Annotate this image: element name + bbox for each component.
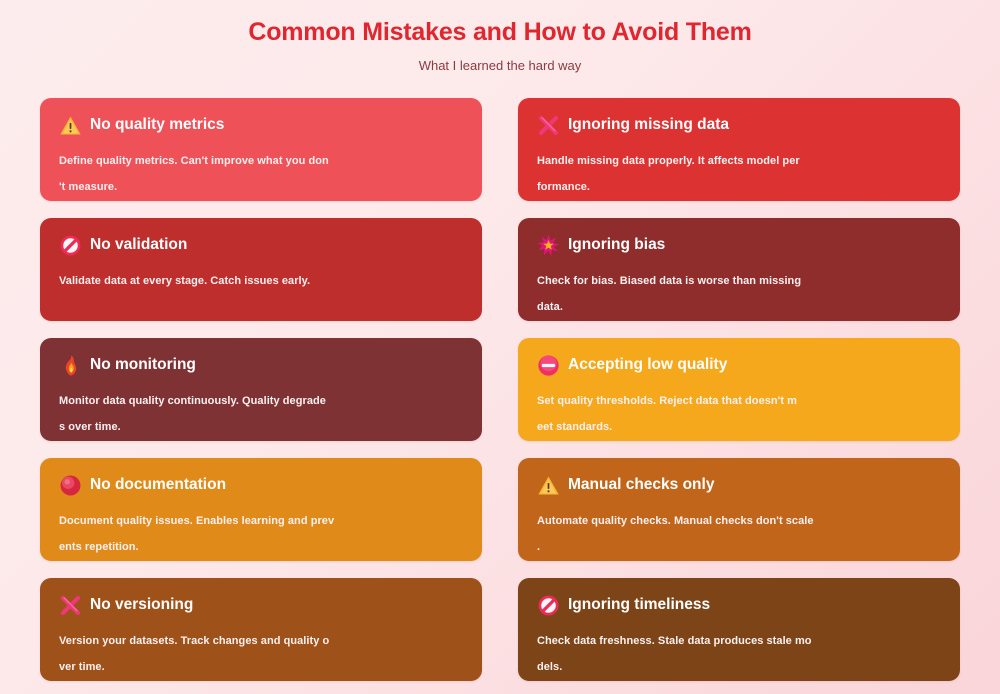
mistake-card[interactable]: No validationValidate data at every stag… — [40, 218, 482, 321]
card-title: Ignoring bias — [568, 235, 665, 255]
card-body-text: Validate data at every stage. Catch issu… — [59, 268, 399, 294]
card-header: No quality metrics — [59, 113, 463, 137]
card-title: Ignoring missing data — [568, 115, 729, 135]
card-header: Ignoring missing data — [537, 113, 941, 137]
mistake-card[interactable]: Ignoring timelinessCheck data freshness.… — [518, 578, 960, 681]
warning-triangle-icon — [537, 474, 560, 497]
prohibited-sign-icon — [537, 594, 560, 617]
card-header: No documentation — [59, 473, 463, 497]
slide-root: Common Mistakes and How to Avoid Them Wh… — [0, 0, 1000, 694]
cross-mark-icon — [59, 594, 82, 617]
card-header: Manual checks only — [537, 473, 941, 497]
card-title: No validation — [90, 235, 187, 255]
mistake-card[interactable]: No documentationDocument quality issues.… — [40, 458, 482, 561]
mistake-card[interactable]: Manual checks onlyAutomate quality check… — [518, 458, 960, 561]
card-title: No quality metrics — [90, 115, 224, 135]
mistake-card[interactable]: Ignoring biasCheck for bias. Biased data… — [518, 218, 960, 321]
card-header: No versioning — [59, 593, 463, 617]
card-body-text: Check data freshness. Stale data produce… — [537, 628, 877, 680]
mistake-card[interactable]: No monitoringMonitor data quality contin… — [40, 338, 482, 441]
card-body-text: Monitor data quality continuously. Quali… — [59, 388, 399, 440]
card-header: Accepting low quality — [537, 353, 941, 377]
card-title: No documentation — [90, 475, 226, 495]
card-body-text: Set quality thresholds. Reject data that… — [537, 388, 877, 440]
card-title: Accepting low quality — [568, 355, 727, 375]
card-title: Ignoring timeliness — [568, 595, 710, 615]
mistakes-card-grid: No quality metricsDefine quality metrics… — [40, 98, 960, 681]
red-circle-icon — [59, 474, 82, 497]
header: Common Mistakes and How to Avoid Them Wh… — [0, 0, 1000, 74]
page-title: Common Mistakes and How to Avoid Them — [0, 17, 1000, 47]
no-entry-sign-icon — [537, 354, 560, 377]
card-body-text: Handle missing data properly. It affects… — [537, 148, 877, 200]
mistake-card[interactable]: Accepting low qualitySet quality thresho… — [518, 338, 960, 441]
cross-mark-icon — [537, 114, 560, 137]
card-header: No validation — [59, 233, 463, 257]
mistake-card[interactable]: No quality metricsDefine quality metrics… — [40, 98, 482, 201]
fire-icon — [59, 354, 82, 377]
card-header: Ignoring timeliness — [537, 593, 941, 617]
card-header: No monitoring — [59, 353, 463, 377]
prohibited-sign-icon — [59, 234, 82, 257]
card-title: Manual checks only — [568, 475, 714, 495]
card-title: No monitoring — [90, 355, 196, 375]
card-title: No versioning — [90, 595, 193, 615]
card-body-text: Version your datasets. Track changes and… — [59, 628, 399, 680]
page-subtitle: What I learned the hard way — [0, 58, 1000, 74]
mistake-card[interactable]: Ignoring missing dataHandle missing data… — [518, 98, 960, 201]
mistake-card[interactable]: No versioningVersion your datasets. Trac… — [40, 578, 482, 681]
card-body-text: Document quality issues. Enables learnin… — [59, 508, 399, 560]
warning-triangle-icon — [59, 114, 82, 137]
collision-burst-icon — [537, 234, 560, 257]
card-body-text: Check for bias. Biased data is worse tha… — [537, 268, 877, 320]
card-body-text: Automate quality checks. Manual checks d… — [537, 508, 877, 560]
card-header: Ignoring bias — [537, 233, 941, 257]
card-body-text: Define quality metrics. Can't improve wh… — [59, 148, 399, 200]
